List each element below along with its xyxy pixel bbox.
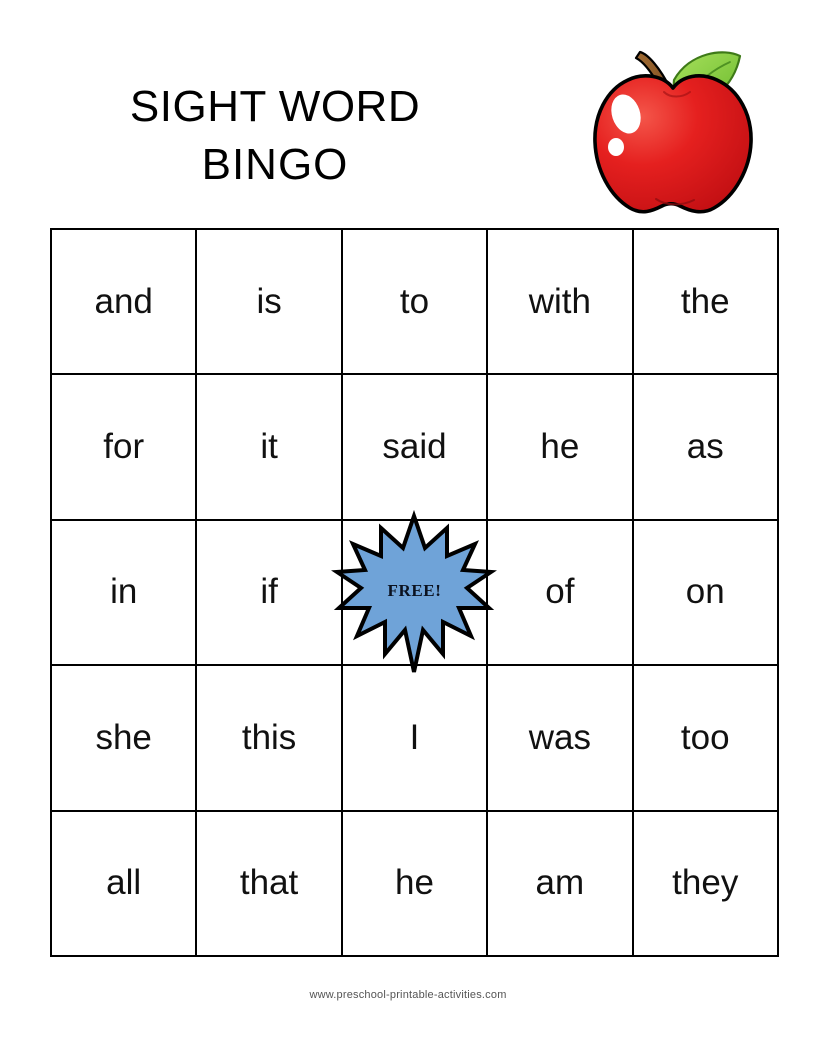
- bingo-cell-word: to: [343, 282, 486, 322]
- bingo-cell[interactable]: to: [342, 229, 487, 374]
- bingo-cell[interactable]: am: [487, 811, 632, 956]
- bingo-cell-word: as: [634, 427, 777, 467]
- free-space-label: FREE!: [343, 581, 486, 601]
- bingo-cell[interactable]: they: [633, 811, 778, 956]
- bingo-cell[interactable]: if: [196, 520, 341, 665]
- bingo-cell[interactable]: I: [342, 665, 487, 810]
- bingo-cell[interactable]: all: [51, 811, 196, 956]
- table-row: in if FREE! of on: [51, 520, 778, 665]
- bingo-cell[interactable]: with: [487, 229, 632, 374]
- table-row: she this I was too: [51, 665, 778, 810]
- page-footer: www.preschool-printable-activities.com: [0, 985, 816, 1003]
- bingo-cell-word: the: [634, 282, 777, 322]
- bingo-cell-word: said: [343, 427, 486, 467]
- bingo-cell-word: too: [634, 718, 777, 758]
- bingo-cell-word: that: [197, 863, 340, 903]
- page-title: SIGHT WORD BINGO: [60, 78, 490, 194]
- bingo-cell-word: he: [343, 863, 486, 903]
- bingo-cell[interactable]: it: [196, 374, 341, 519]
- table-row: all that he am they: [51, 811, 778, 956]
- bingo-cell[interactable]: said: [342, 374, 487, 519]
- apple-icon: [578, 36, 768, 222]
- bingo-cell[interactable]: and: [51, 229, 196, 374]
- bingo-grid: and is to with the for it said he as in …: [50, 228, 779, 957]
- bingo-free-space[interactable]: FREE!: [342, 520, 487, 665]
- bingo-cell[interactable]: too: [633, 665, 778, 810]
- bingo-cell-word: this: [197, 718, 340, 758]
- bingo-cell-word: it: [197, 427, 340, 467]
- bingo-cell-word: is: [197, 282, 340, 322]
- bingo-cell[interactable]: he: [487, 374, 632, 519]
- bingo-cell-word: in: [52, 572, 195, 612]
- bingo-cell-word: on: [634, 572, 777, 612]
- bingo-cell[interactable]: on: [633, 520, 778, 665]
- bingo-cell[interactable]: of: [487, 520, 632, 665]
- table-row: and is to with the: [51, 229, 778, 374]
- bingo-cell-word: all: [52, 863, 195, 903]
- bingo-cell-word: they: [634, 863, 777, 903]
- bingo-cell-word: am: [488, 863, 631, 903]
- bingo-cell[interactable]: for: [51, 374, 196, 519]
- bingo-cell[interactable]: he: [342, 811, 487, 956]
- title-line-1: SIGHT WORD: [60, 78, 490, 136]
- bingo-cell-word: he: [488, 427, 631, 467]
- page-header: SIGHT WORD BINGO: [0, 0, 816, 228]
- bingo-cell[interactable]: in: [51, 520, 196, 665]
- bingo-cell[interactable]: this: [196, 665, 341, 810]
- bingo-cell-word: she: [52, 718, 195, 758]
- bingo-cell-word: for: [52, 427, 195, 467]
- bingo-cell-word: if: [197, 572, 340, 612]
- bingo-cell-word: was: [488, 718, 631, 758]
- bingo-cell[interactable]: the: [633, 229, 778, 374]
- bingo-cell[interactable]: she: [51, 665, 196, 810]
- title-line-2: BINGO: [60, 136, 490, 194]
- footer-website-url: www.preschool-printable-activities.com: [309, 989, 506, 1001]
- bingo-cell[interactable]: was: [487, 665, 632, 810]
- bingo-cell[interactable]: is: [196, 229, 341, 374]
- apple-highlight-small: [608, 138, 624, 156]
- bingo-cell-word: and: [52, 282, 195, 322]
- bingo-cell[interactable]: as: [633, 374, 778, 519]
- bingo-cell[interactable]: that: [196, 811, 341, 956]
- bingo-cell-word: with: [488, 282, 631, 322]
- bingo-cell-word: of: [488, 572, 631, 612]
- bingo-cell-word: I: [343, 718, 486, 758]
- table-row: for it said he as: [51, 374, 778, 519]
